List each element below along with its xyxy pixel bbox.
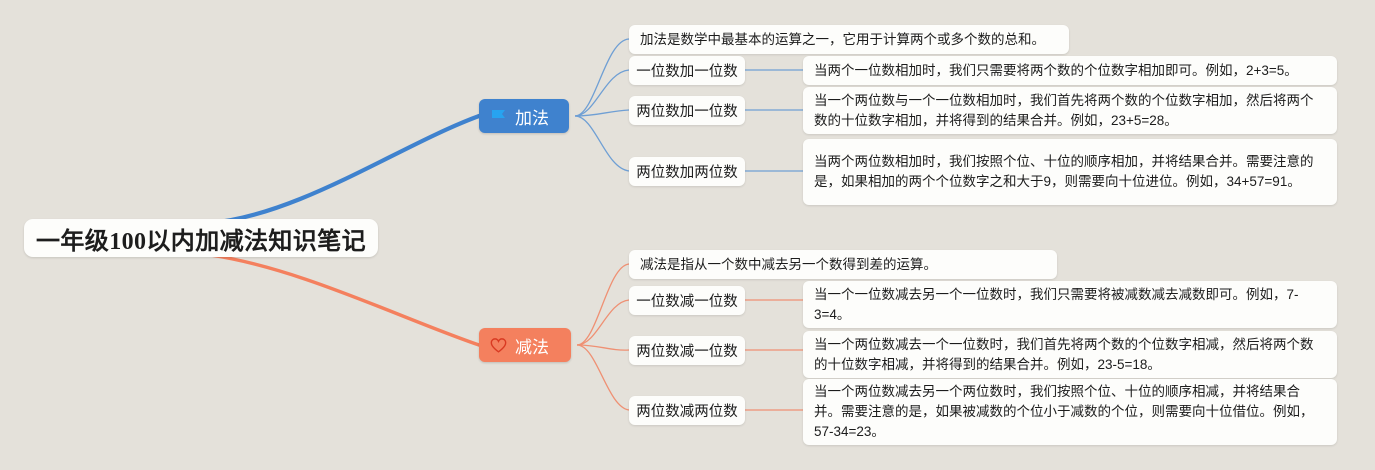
topic-label-addition-2: 两位数加两位数 [636,161,738,182]
detail-text-addition-1: 当一个两位数与一个一位数相加时，我们首先将两个数的个位数字相加，然后将两个数的十… [814,91,1326,131]
topic-label-subtraction-0: 一位数减一位数 [636,290,738,311]
detail-text-subtraction-0: 当一个一位数减去另一个一位数时，我们只需要将被减数减去减数即可。例如，7-3=4… [814,285,1326,325]
topic-label-subtraction-1: 两位数减一位数 [636,340,738,361]
detail-text-addition-2: 当两个两位数相加时，我们按照个位、十位的顺序相加，并将结果合并。需要注意的是，如… [814,152,1326,192]
topic-label-subtraction-2: 两位数减两位数 [636,400,738,421]
detail-box-subtraction-1[interactable]: 当一个两位数减去一个一位数时，我们首先将两个数的个位数字相减，然后将两个数的十位… [803,331,1337,378]
detail-box-subtraction-2[interactable]: 当一个两位数减去另一个两位数时，我们按照个位、十位的顺序相减，并将结果合并。需要… [803,379,1337,445]
summary-text-addition: 加法是数学中最基本的运算之一，它用于计算两个或多个数的总和。 [640,30,1045,50]
detail-text-subtraction-2: 当一个两位数减去另一个两位数时，我们按照个位、十位的顺序相减，并将结果合并。需要… [814,382,1326,442]
summary-text-subtraction: 减法是指从一个数中减去另一个数得到差的运算。 [640,255,937,275]
detail-box-addition-0[interactable]: 当两个一位数相加时，我们只需要将两个数的个位数字相加即可。例如，2+3=5。 [803,56,1337,85]
detail-box-subtraction-0[interactable]: 当一个一位数减去另一个一位数时，我们只需要将被减数减去减数即可。例如，7-3=4… [803,281,1337,328]
detail-box-addition-2[interactable]: 当两个两位数相加时，我们按照个位、十位的顺序相加，并将结果合并。需要注意的是，如… [803,139,1337,205]
topic-node-addition-0[interactable]: 一位数加一位数 [629,56,745,85]
detail-text-addition-0: 当两个一位数相加时，我们只需要将两个数的个位数字相加即可。例如，2+3=5。 [814,61,1298,81]
detail-box-addition-1[interactable]: 当一个两位数与一个一位数相加时，我们首先将两个数的个位数字相加，然后将两个数的十… [803,87,1337,134]
branch-label-addition: 加法 [515,104,549,129]
wire-subtraction-to-summary [577,264,629,345]
topic-label-addition-0: 一位数加一位数 [636,60,738,81]
detail-text-subtraction-1: 当一个两位数减去一个一位数时，我们首先将两个数的个位数字相减，然后将两个数的十位… [814,335,1326,375]
root-node-label: 一年级100以内加减法知识笔记 [36,221,366,256]
topic-label-addition-1: 两位数加一位数 [636,100,738,121]
wire-subtraction-to-topic-0 [577,300,629,345]
branch-label-subtraction: 减法 [515,333,549,358]
flag-icon [489,107,508,126]
summary-box-addition[interactable]: 加法是数学中最基本的运算之一，它用于计算两个或多个数的总和。 [629,25,1069,54]
wire-root-to-addition [210,116,479,223]
wire-subtraction-to-topic-2 [577,345,629,410]
branch-node-subtraction[interactable]: 减法 [479,328,571,362]
wire-root-to-subtraction [210,255,479,345]
wire-addition-to-topic-0 [575,70,629,116]
heart-icon [489,336,508,355]
topic-node-subtraction-2[interactable]: 两位数减两位数 [629,396,745,425]
topic-node-subtraction-0[interactable]: 一位数减一位数 [629,286,745,315]
wire-addition-to-topic-2 [575,116,629,171]
summary-box-subtraction[interactable]: 减法是指从一个数中减去另一个数得到差的运算。 [629,250,1057,279]
wire-addition-to-summary [575,39,629,116]
wire-addition-to-topic-1 [575,110,629,116]
topic-node-addition-2[interactable]: 两位数加两位数 [629,157,745,186]
root-node[interactable]: 一年级100以内加减法知识笔记 [24,219,378,257]
topic-node-addition-1[interactable]: 两位数加一位数 [629,96,745,125]
mindmap-canvas: 一年级100以内加减法知识笔记 加法 加法是数学中最基本的运算之一，它用于计算两… [0,0,1375,470]
branch-node-addition[interactable]: 加法 [479,99,569,133]
wire-subtraction-to-topic-1 [577,345,629,350]
topic-node-subtraction-1[interactable]: 两位数减一位数 [629,336,745,365]
